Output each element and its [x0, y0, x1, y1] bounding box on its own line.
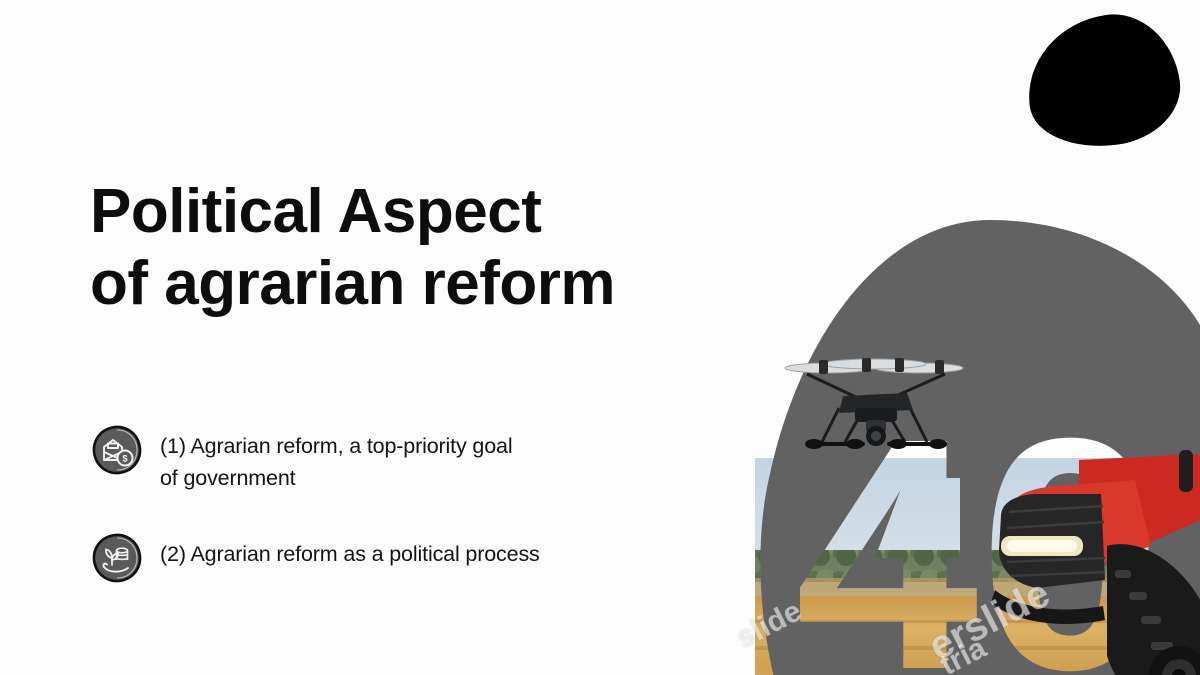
black-blob-shape: [1019, 6, 1188, 156]
svg-text:$: $: [122, 454, 127, 464]
bullet-list: $ (1) Agrarian reform, a top-priority go…: [92, 424, 702, 583]
agriculture-drone-photo: [767, 338, 982, 458]
slide-canvas: 40: [0, 0, 1200, 675]
red-tracked-tractor-photo: [983, 450, 1200, 675]
list-item[interactable]: (2) Agrarian reform as a political proce…: [92, 532, 702, 583]
list-item[interactable]: $ (1) Agrarian reform, a top-priority go…: [92, 424, 702, 494]
list-item-label: (2) Agrarian reform as a political proce…: [160, 532, 540, 571]
hero-graphic: 40: [755, 228, 1200, 675]
page-title: Political Aspect of agrarian reform: [90, 176, 730, 321]
barn-coin-icon: $: [92, 425, 142, 475]
plant-coins-hand-icon: [92, 533, 142, 583]
list-item-label: (1) Agrarian reform, a top-priority goal…: [160, 424, 512, 494]
